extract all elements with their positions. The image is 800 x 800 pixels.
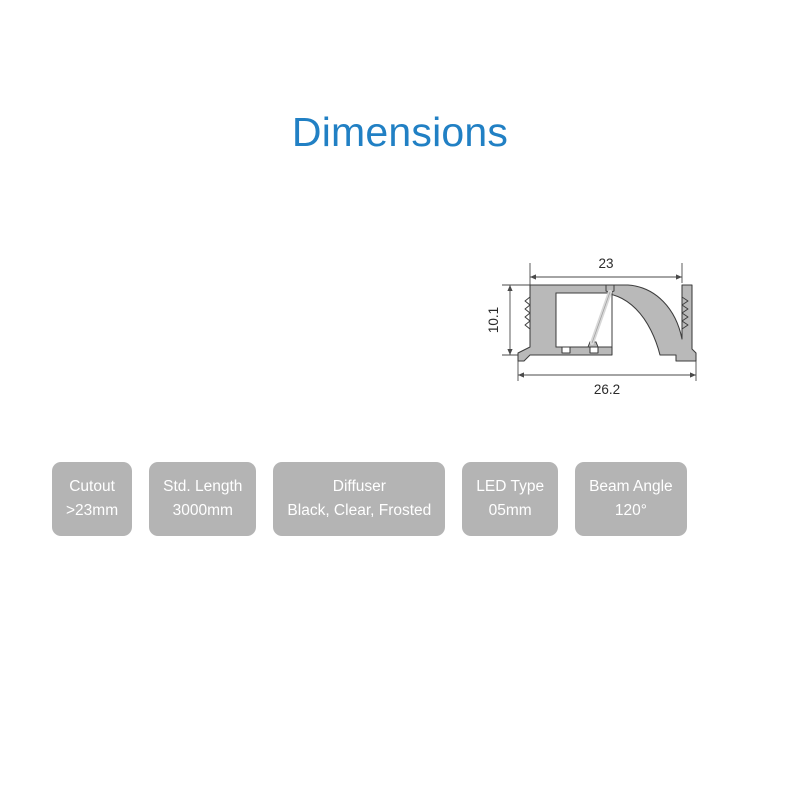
dimension-line-26-2: 26.2 <box>518 372 696 397</box>
spec-value-beam-angle: 120° <box>615 499 647 523</box>
spec-value-cutout: >23mm <box>66 499 118 523</box>
dimension-line-10-1: 10.1 <box>486 285 513 355</box>
dimension-value-23: 23 <box>598 256 613 271</box>
profile-body <box>518 285 696 361</box>
spec-value-diffuser: Black, Clear, Frosted <box>287 499 431 523</box>
dimension-drawing: 23 10.1 26.2 <box>470 235 730 405</box>
spec-badge-list: Cutout >23mm Std. Length 3000mm Diffuser… <box>52 462 768 536</box>
spec-value-std-length: 3000mm <box>173 499 233 523</box>
page-root: Dimensions 23 <box>0 0 800 800</box>
spec-badge-cutout: Cutout >23mm <box>52 462 132 536</box>
spec-value-led-type: 05mm <box>489 499 532 523</box>
spec-label-std-length: Std. Length <box>163 475 242 499</box>
led-channel-cavity <box>556 293 612 347</box>
left-wall-serration <box>525 297 530 329</box>
dimension-value-26-2: 26.2 <box>594 382 620 397</box>
spec-badge-led-type: LED Type 05mm <box>462 462 558 536</box>
spec-badge-std-length: Std. Length 3000mm <box>149 462 256 536</box>
dimension-line-23: 23 <box>530 256 682 280</box>
profile-cross-section-svg: 23 10.1 26.2 <box>470 235 730 405</box>
spec-label-led-type: LED Type <box>476 475 544 499</box>
spec-label-cutout: Cutout <box>69 475 115 499</box>
spec-badge-diffuser: Diffuser Black, Clear, Frosted <box>273 462 445 536</box>
spec-label-beam-angle: Beam Angle <box>589 475 673 499</box>
page-title: Dimensions <box>0 110 800 155</box>
spec-label-diffuser: Diffuser <box>333 475 386 499</box>
spec-badge-beam-angle: Beam Angle 120° <box>575 462 687 536</box>
dimension-value-10-1: 10.1 <box>486 307 501 333</box>
